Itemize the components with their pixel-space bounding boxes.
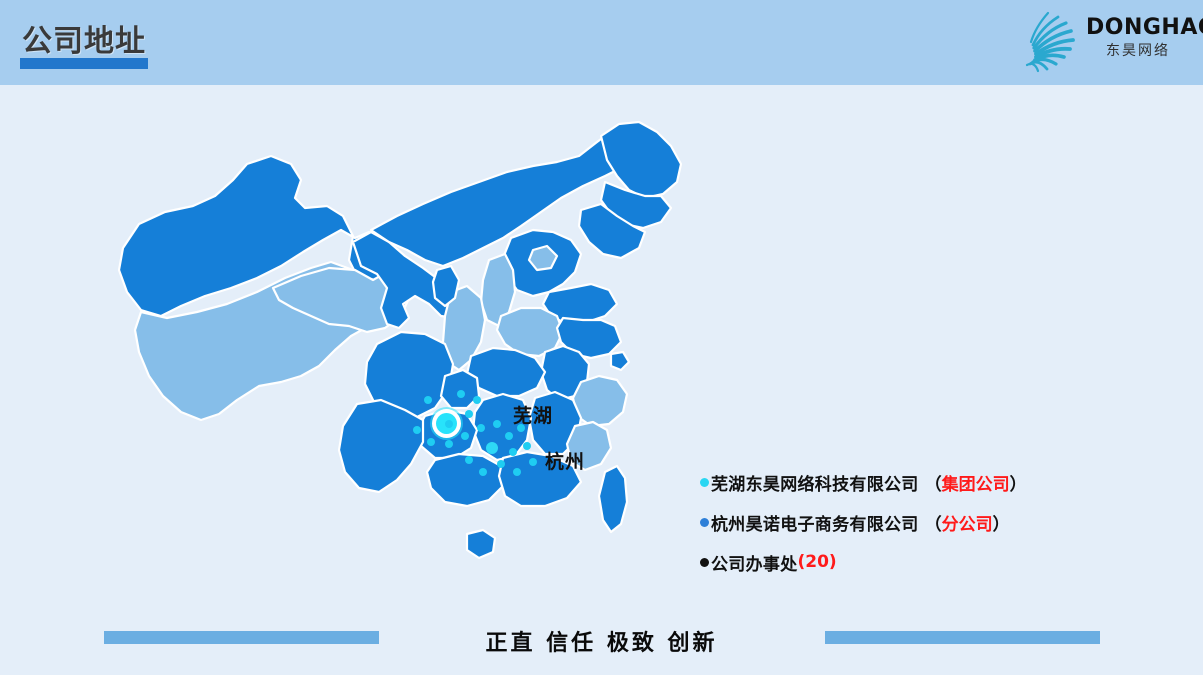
- legend-tag: 分公司: [942, 515, 993, 535]
- map-marker-office: [445, 440, 453, 448]
- map-marker-office: [477, 424, 485, 432]
- slide-canvas: 公司地址: [0, 0, 1203, 675]
- china-map: 芜湖 杭州: [105, 120, 705, 610]
- map-marker-office: [513, 468, 521, 476]
- province-hainan: [467, 530, 495, 558]
- logo-wordmark: DONGHAO 东昊网络: [1086, 16, 1190, 61]
- map-marker-office: [413, 426, 421, 434]
- map-marker-office: [497, 460, 505, 468]
- legend-company-name: 杭州昊诺电子商务有限公司: [711, 510, 919, 535]
- map-marker-office: [445, 420, 453, 428]
- china-map-svg: [105, 120, 705, 610]
- map-city-label-hangzhou: 杭州: [545, 447, 585, 474]
- province-shanghai: [611, 352, 629, 370]
- legend-bullet-icon: [700, 558, 709, 567]
- slide-header: 公司地址: [0, 0, 1203, 85]
- legend-company-name: 芜湖东昊网络科技有限公司: [711, 470, 919, 495]
- logo-chinese-name: 东昊网络: [1086, 41, 1190, 61]
- legend-item-group-company: 芜湖东昊网络科技有限公司 （集团公司）: [700, 462, 1100, 502]
- legend-close-paren: ）: [993, 515, 1010, 535]
- legend-item-offices: 公司办事处(20): [700, 542, 1100, 582]
- map-marker-office: [457, 390, 465, 398]
- map-marker-office: [465, 410, 473, 418]
- legend-item-branch-company: 杭州昊诺电子商务有限公司 （分公司）: [700, 502, 1100, 542]
- legend-bullet-icon: [700, 478, 709, 487]
- map-marker-office: [424, 396, 432, 404]
- map-marker-office: [505, 432, 513, 440]
- logo-english-name: DONGHAO: [1086, 16, 1190, 40]
- map-marker-office: [465, 456, 473, 464]
- map-marker-office: [523, 442, 531, 450]
- legend-open-paren: （: [925, 475, 942, 495]
- province-taiwan: [599, 466, 627, 532]
- map-city-label-wuhu: 芜湖: [513, 401, 553, 428]
- legend-close-paren: ）: [1010, 475, 1027, 495]
- legend-office-count: (20): [798, 552, 837, 572]
- legend-bullet-icon: [700, 518, 709, 527]
- legend-tag: 集团公司: [942, 475, 1010, 495]
- office-legend: 芜湖东昊网络科技有限公司 （集团公司） 杭州昊诺电子商务有限公司 （分公司） 公…: [700, 462, 1100, 582]
- map-marker-office: [493, 420, 501, 428]
- footer-bar-right: [825, 631, 1100, 644]
- title-underline-accent: [20, 58, 148, 69]
- legend-company-name: 公司办事处: [711, 550, 798, 575]
- company-logo: DONGHAO 东昊网络: [1016, 6, 1191, 78]
- map-marker-office: [473, 396, 481, 404]
- legend-open-paren: （: [925, 515, 942, 535]
- page-title: 公司地址: [22, 16, 146, 60]
- feather-fan-icon: [1018, 8, 1086, 74]
- map-marker-office: [509, 448, 517, 456]
- map-marker-office: [529, 458, 537, 466]
- map-marker-office: [479, 468, 487, 476]
- province-yunnan: [339, 400, 423, 492]
- legend-tag-wrapper: （分公司）: [925, 510, 1010, 535]
- legend-tag-wrapper: （集团公司）: [925, 470, 1027, 495]
- map-marker-office: [427, 438, 435, 446]
- map-marker-hangzhou-branch: [486, 442, 498, 454]
- map-marker-office: [461, 432, 469, 440]
